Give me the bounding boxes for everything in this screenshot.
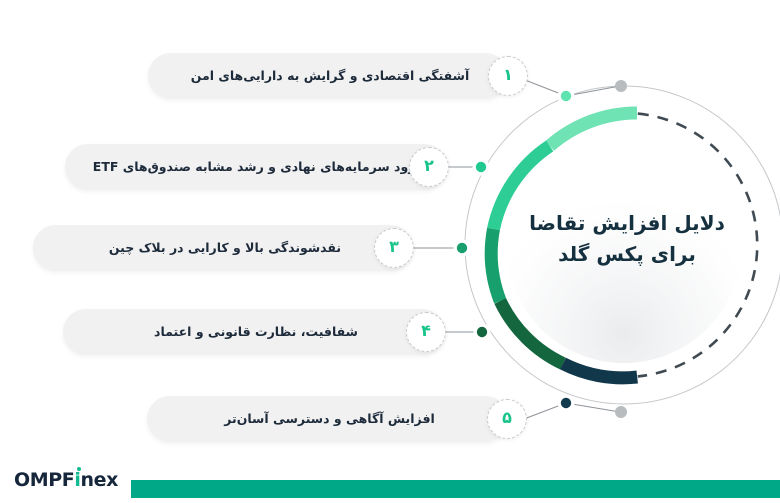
- tail-line-5: [566, 403, 620, 412]
- node-dot-4: [474, 324, 491, 341]
- ring-segment-1: [550, 113, 637, 146]
- outer-dot-1: [615, 80, 627, 92]
- center-title: دلایل افزایش تقاضا برای پکس گلد: [512, 208, 742, 270]
- item-number-5: ۵: [502, 410, 512, 426]
- node-dot-1: [558, 88, 575, 105]
- ring-segment-3: [491, 229, 500, 301]
- item-number-2: ۲: [424, 158, 434, 174]
- infographic-canvas: آشفتگی اقتصادی و گرایش به دارایی‌های امن…: [0, 0, 780, 503]
- node-dot-5: [558, 395, 575, 412]
- center-title-line1: دلایل افزایش تقاضا: [512, 208, 742, 239]
- item-badge-2[interactable]: ۲: [409, 147, 449, 187]
- node-dot-3: [454, 240, 471, 257]
- logo-text-part1: OMPF: [14, 469, 74, 491]
- item-badge-5[interactable]: ۵: [487, 399, 527, 439]
- item-label-5: افزایش آگاهی و دسترسی آسان‌تر: [224, 413, 435, 426]
- center-title-line2: برای پکس گلد: [512, 239, 742, 270]
- item-badge-3[interactable]: ۳: [374, 228, 414, 268]
- item-label-2: ورود سرمایه‌های نهادی و رشد مشابه صندوق‌…: [93, 161, 423, 174]
- item-pill-3[interactable]: نقدشوندگی بالا و کارایی در بلاک چین: [33, 225, 413, 271]
- logo-accent-letter: i: [74, 469, 80, 491]
- connector-line-1: [525, 80, 566, 96]
- logo-text-part2: nex: [81, 469, 118, 491]
- item-pill-1[interactable]: آشفتگی اقتصادی و گرایش به دارایی‌های امن: [148, 53, 508, 99]
- footer-accent-bar: [131, 480, 780, 498]
- item-pill-2[interactable]: ورود سرمایه‌های نهادی و رشد مشابه صندوق‌…: [65, 144, 447, 190]
- outer-dot-5: [615, 406, 627, 418]
- ring-segment-5: [563, 364, 637, 378]
- item-label-4: شفافیت، نظارت قانونی و اعتماد: [154, 326, 358, 339]
- item-badge-1[interactable]: ۱: [488, 56, 528, 96]
- item-label-1: آشفتگی اقتصادی و گرایش به دارایی‌های امن: [191, 70, 470, 83]
- item-pill-5[interactable]: افزایش آگاهی و دسترسی آسان‌تر: [147, 396, 508, 442]
- tail-line-1: [566, 86, 620, 96]
- item-number-1: ۱: [503, 67, 513, 83]
- brand-logo[interactable]: OMPFinex: [14, 469, 118, 491]
- logo-text-accent: i: [74, 469, 80, 491]
- ring-segment-4: [500, 301, 563, 364]
- item-label-3: نقدشوندگی بالا و کارایی در بلاک چین: [109, 242, 341, 255]
- node-dot-2: [473, 159, 490, 176]
- item-pill-4[interactable]: شفافیت، نظارت قانونی و اعتماد: [63, 309, 445, 355]
- item-badge-4[interactable]: ۴: [406, 312, 446, 352]
- item-number-3: ۳: [389, 239, 399, 255]
- connector-line-5: [524, 403, 566, 419]
- item-number-4: ۴: [421, 323, 431, 339]
